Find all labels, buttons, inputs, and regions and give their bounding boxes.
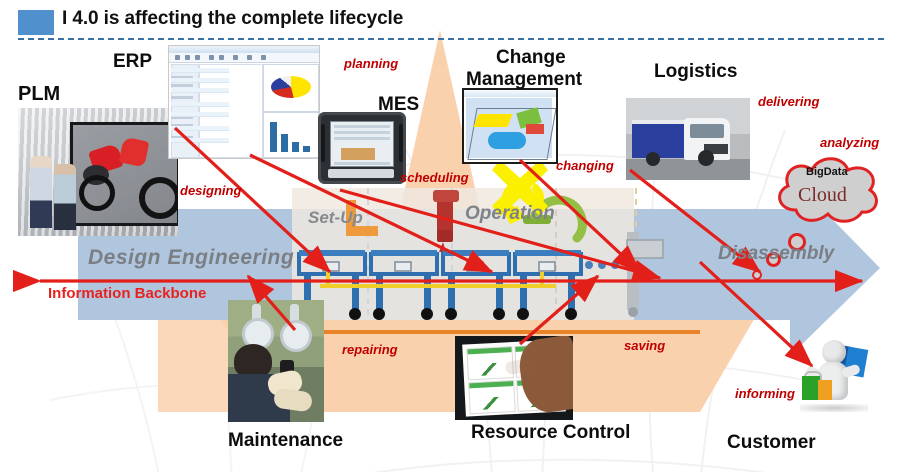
plm-photo xyxy=(18,108,178,236)
verb-analyzing: analyzing xyxy=(820,135,879,150)
phase-label-operation: Operation xyxy=(465,203,555,225)
page-title: I 4.0 is affecting the complete lifecycl… xyxy=(62,8,403,30)
label-customer: Customer xyxy=(727,433,816,453)
phase-label-design: Design Engineering xyxy=(88,246,294,270)
information-backbone-label: Information Backbone xyxy=(48,285,206,302)
label-plm: PLM xyxy=(18,84,60,105)
phase-label-setup: Set-Up xyxy=(308,208,363,228)
phase-label-disassembly: Disassembly xyxy=(718,243,834,265)
header-divider xyxy=(18,38,884,40)
label-change-management-line1: Change xyxy=(496,48,566,68)
verb-scheduling: scheduling xyxy=(400,170,469,185)
resource-control-photo xyxy=(455,336,573,420)
maintenance-photo xyxy=(228,300,324,422)
verb-designing: designing xyxy=(180,183,241,198)
mes-device-photo xyxy=(318,112,406,184)
cloud-trail-dot-small xyxy=(752,270,762,280)
erp-screenshot xyxy=(168,45,320,159)
logistics-truck-photo xyxy=(626,98,750,180)
cloud-label: Cloud xyxy=(798,184,847,207)
cloud-bigdata-label: BigData xyxy=(806,166,848,178)
verb-saving: saving xyxy=(624,338,665,353)
customer-figure xyxy=(800,340,872,414)
label-change-management-line2: Management xyxy=(466,70,582,90)
verb-repairing: repairing xyxy=(342,342,398,357)
label-logistics: Logistics xyxy=(654,62,737,82)
header-badge xyxy=(18,10,54,35)
verb-changing: changing xyxy=(556,158,614,173)
label-maintenance: Maintenance xyxy=(228,431,343,451)
change-management-cad-photo xyxy=(462,88,558,164)
slide-canvas: BigData Cloud xyxy=(0,0,900,472)
label-resource-control: Resource Control xyxy=(471,423,630,443)
verb-planning: planning xyxy=(344,56,398,71)
verb-informing: informing xyxy=(735,386,795,401)
verb-delivering: delivering xyxy=(758,94,819,109)
label-mes: MES xyxy=(378,95,419,115)
label-erp: ERP xyxy=(113,52,152,72)
